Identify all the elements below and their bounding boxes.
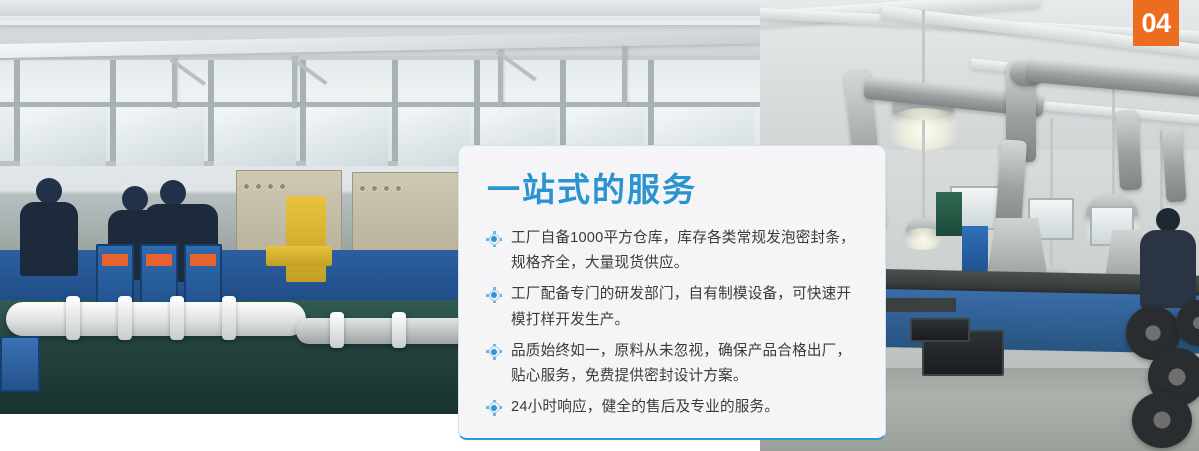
barrel-ring bbox=[170, 296, 184, 340]
target-dot-icon bbox=[487, 232, 501, 246]
barrel-ring bbox=[330, 312, 344, 348]
target-dot-icon bbox=[487, 401, 501, 415]
lamp-wire bbox=[1112, 80, 1115, 196]
list-item-text: 24小时响应，健全的售后及专业的服务。 bbox=[511, 399, 779, 415]
lamp-wire bbox=[1050, 118, 1053, 270]
worker-head bbox=[122, 186, 148, 212]
worker-figure bbox=[20, 202, 78, 276]
lamp-wire bbox=[922, 10, 925, 88]
service-highlights-card: 一站式的服务 工厂自备1000平方仓库，库存各类常规发泡密封条，规格齐全，大量现… bbox=[458, 145, 886, 440]
yellow-guard bbox=[286, 196, 326, 282]
cabinet-knobs bbox=[359, 185, 402, 192]
barrel-ring bbox=[66, 296, 80, 340]
lamp-wire bbox=[922, 120, 925, 222]
storage-crate bbox=[910, 318, 970, 342]
control-indicator bbox=[146, 254, 172, 266]
window-glass bbox=[116, 108, 204, 166]
list-item-text: 工厂配备专门的研发部门，自有制模设备，可快速开模打样开发生产。 bbox=[511, 286, 851, 327]
ceiling-hanger bbox=[622, 46, 627, 106]
target-dot-icon bbox=[487, 288, 501, 302]
barrel-ring bbox=[392, 312, 406, 348]
material-coil bbox=[1132, 392, 1192, 448]
extruder-barrel bbox=[6, 302, 306, 336]
service-bullet-list: 工厂自备1000平方仓库，库存各类常规发泡密封条，规格齐全，大量现货供应。 工厂… bbox=[487, 226, 863, 420]
list-item: 工厂配备专门的研发部门，自有制模设备，可快速开模打样开发生产。 bbox=[487, 282, 863, 332]
window-glass bbox=[214, 108, 296, 166]
step-number-badge: 04 bbox=[1133, 0, 1179, 46]
yellow-guard bbox=[266, 246, 332, 266]
worker-head bbox=[36, 178, 62, 204]
promo-banner: 04 一站式的服务 工厂自备1000平方仓库，库存各类常规发泡密封条，规格齐全，… bbox=[0, 0, 1199, 451]
list-item: 品质始终如一，原料从未忽视，确保产品合格出厂，贴心服务，免费提供密封设计方案。 bbox=[487, 339, 863, 389]
list-item: 24小时响应，健全的售后及专业的服务。 bbox=[487, 395, 863, 420]
worker-head bbox=[1156, 208, 1180, 232]
ceiling-beam bbox=[0, 16, 760, 25]
control-indicator bbox=[190, 254, 216, 266]
window-glass bbox=[306, 108, 388, 166]
step-number-text: 04 bbox=[1141, 10, 1170, 37]
target-dot-icon bbox=[487, 345, 501, 359]
barrel-ring bbox=[222, 296, 236, 340]
green-door bbox=[936, 192, 962, 236]
control-indicator bbox=[102, 254, 128, 266]
exhaust-pipe bbox=[1116, 109, 1142, 190]
list-item: 工厂自备1000平方仓库，库存各类常规发泡密封条，规格齐全，大量现货供应。 bbox=[487, 226, 863, 276]
control-unit bbox=[0, 336, 40, 392]
worker-head bbox=[160, 180, 186, 206]
list-item-text: 品质始终如一，原料从未忽视，确保产品合格出厂，贴心服务，免费提供密封设计方案。 bbox=[511, 343, 851, 384]
page-title: 一站式的服务 bbox=[487, 172, 863, 208]
worker-figure bbox=[1140, 230, 1196, 308]
cabinet-knobs bbox=[243, 183, 286, 190]
control-cabinet bbox=[352, 172, 462, 256]
list-item-text: 工厂自备1000平方仓库，库存各类常规发泡密封条，规格齐全，大量现货供应。 bbox=[511, 230, 855, 271]
window-glass bbox=[20, 108, 106, 166]
barrel-ring bbox=[118, 296, 132, 340]
